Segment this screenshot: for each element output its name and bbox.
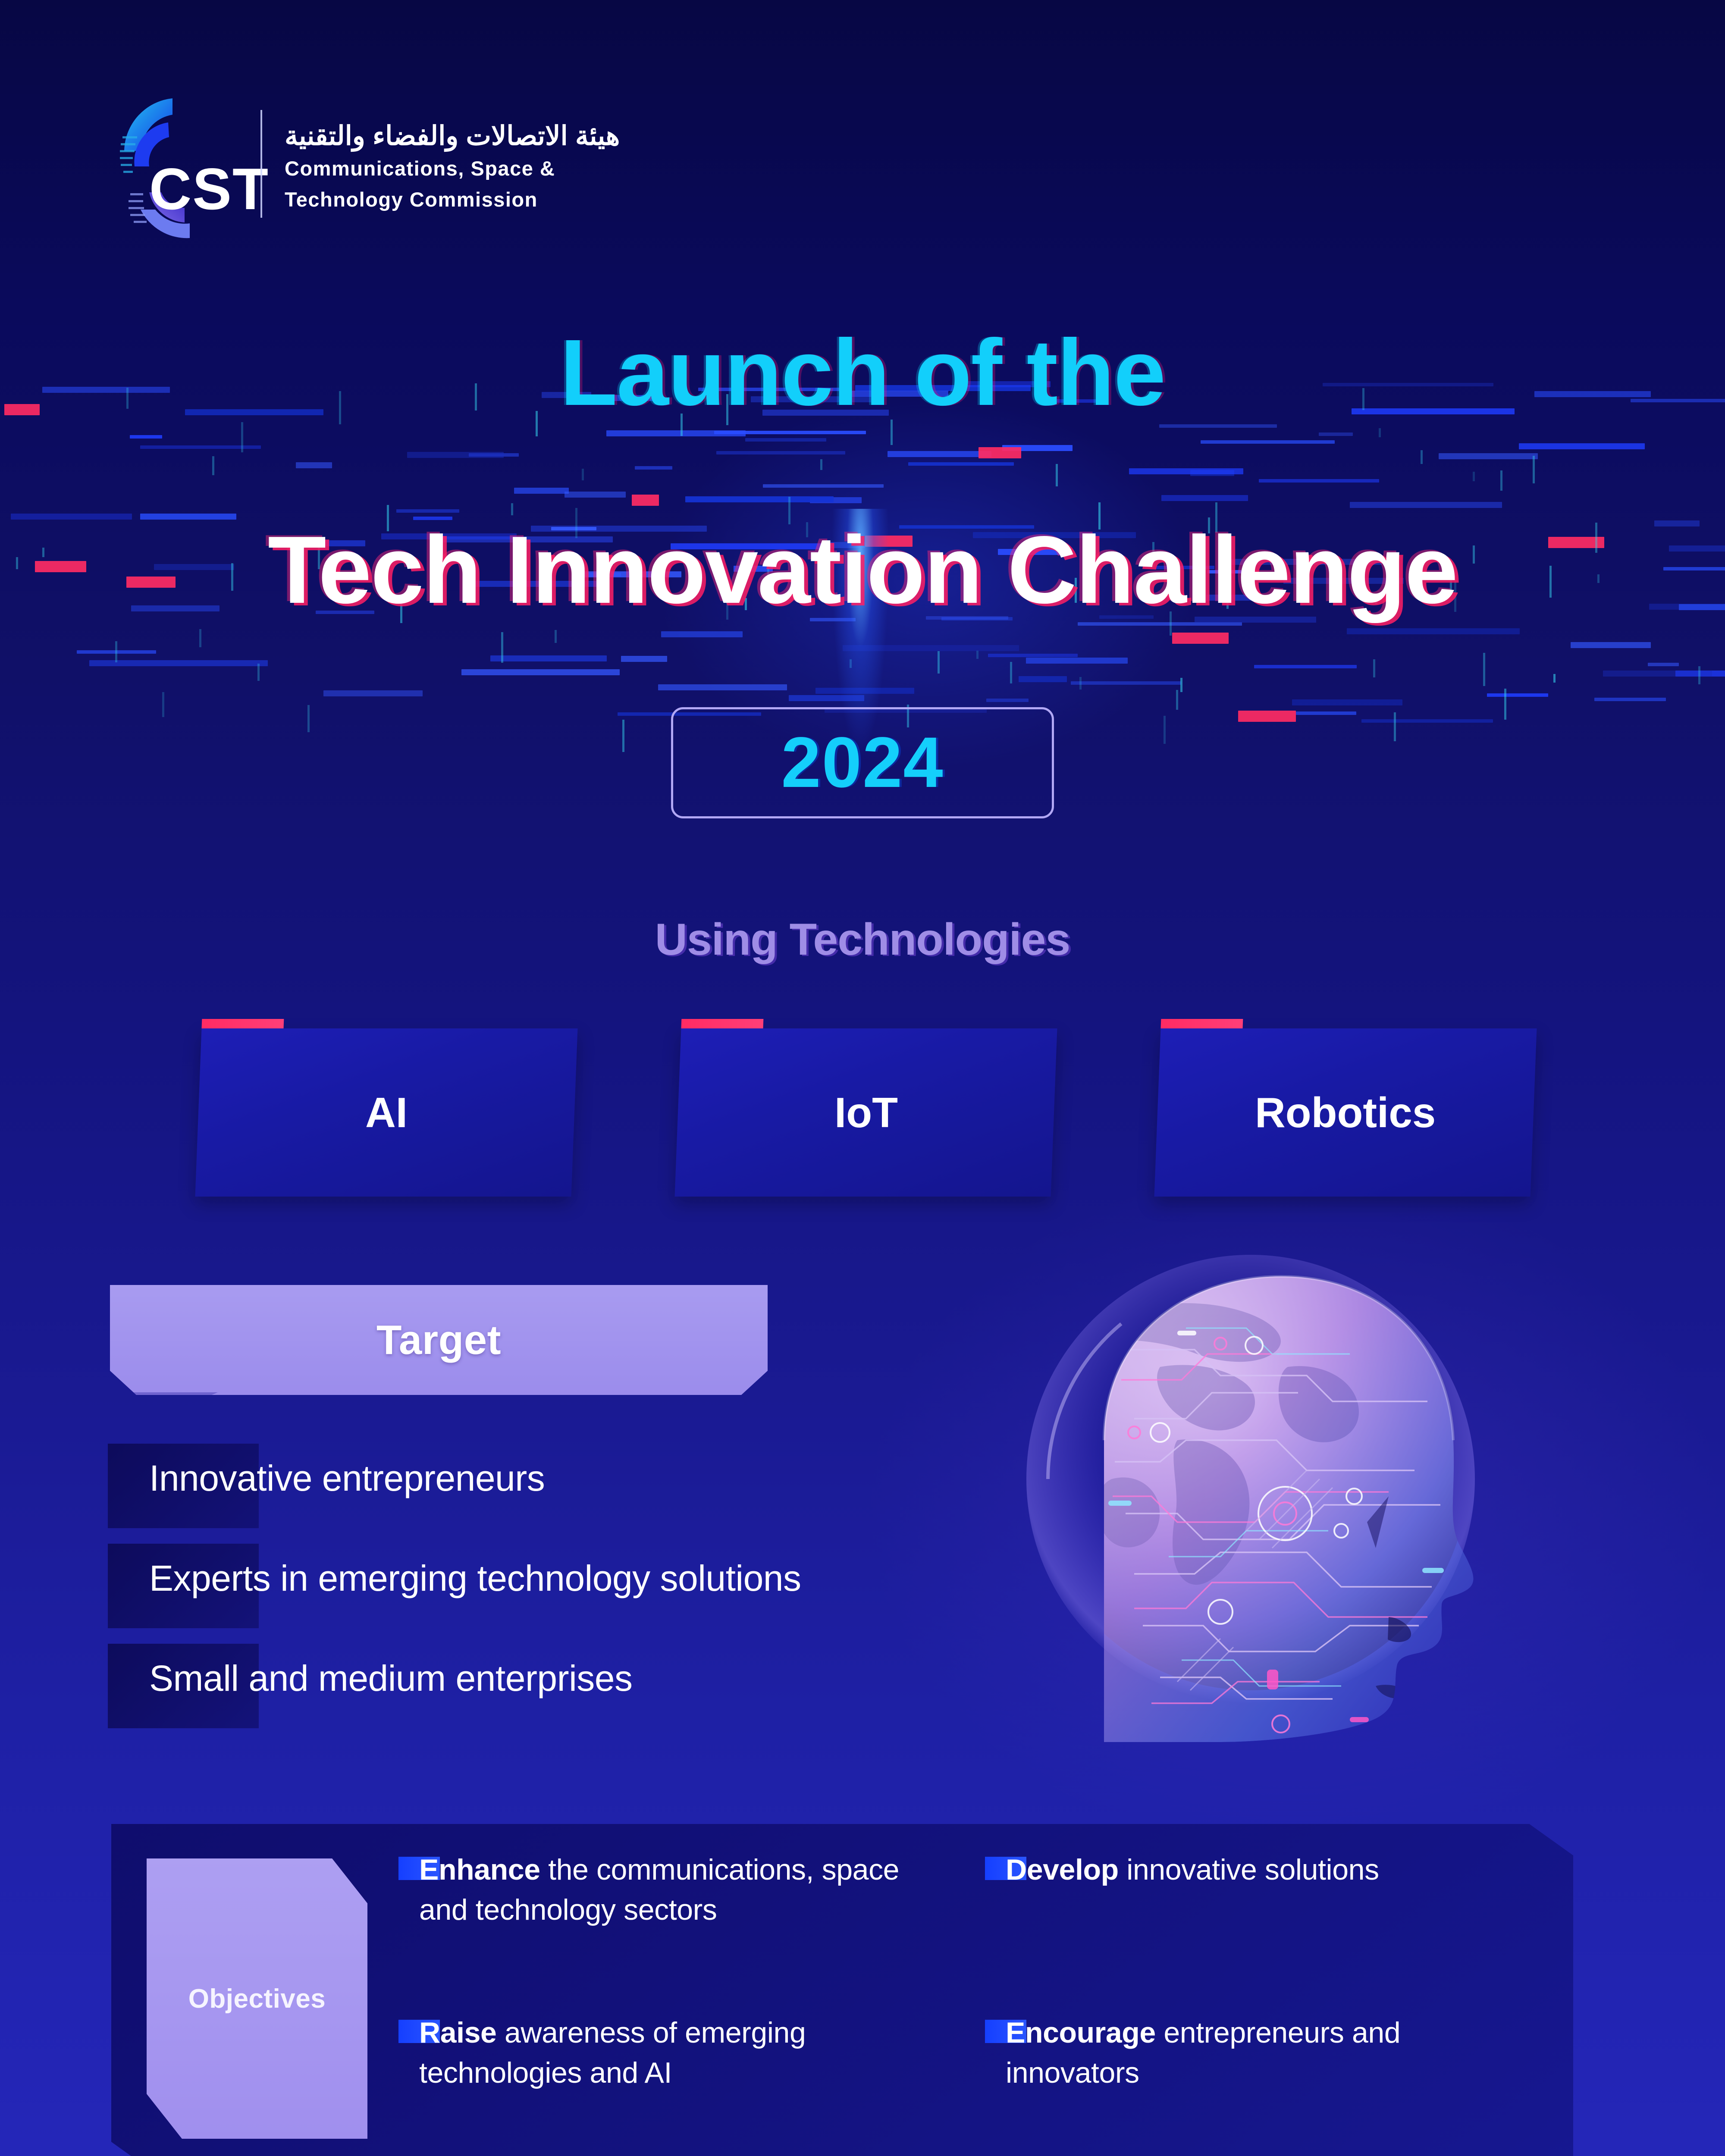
org-name-english-line2: Technology Commission <box>285 187 620 212</box>
list-item: Small and medium enterprises <box>108 1636 1057 1736</box>
technology-card-label: IoT <box>834 1088 898 1137</box>
objectives-grid: Enhance the communications, space and te… <box>401 1850 1540 2152</box>
objective-keyword: Encourage <box>1006 2016 1156 2049</box>
poster-canvas: CST هيئة الاتصالات والفضاء والتقنية Comm… <box>0 0 1725 2156</box>
objective-item: Encourage entrepreneurs and innovators <box>988 2013 1540 2093</box>
hero-year-text: 2024 <box>781 722 944 804</box>
cst-logo-icon: CST <box>108 86 250 241</box>
target-item-label: Innovative entrepreneurs <box>149 1457 545 1499</box>
card-accent-bar <box>1160 1019 1243 1028</box>
org-name-english-line1: Communications, Space & <box>285 156 620 181</box>
list-item: Experts in emerging technology solutions <box>108 1536 1057 1636</box>
objectives-heading-tab: Objectives <box>147 1858 367 2139</box>
target-list: Innovative entrepreneurs Experts in emer… <box>108 1436 1057 1736</box>
objective-item: Develop innovative solutions <box>988 1850 1540 1890</box>
objective-item: Enhance the communications, space and te… <box>401 1850 953 1930</box>
card-accent-bar <box>681 1019 763 1028</box>
hero-title-line1: Launch of the <box>0 319 1725 427</box>
technology-card-robotics[interactable]: Robotics <box>1154 1028 1537 1197</box>
objective-keyword: Develop <box>1006 1853 1119 1886</box>
objective-keyword: Raise <box>419 2016 496 2049</box>
technology-card-label: Robotics <box>1255 1088 1436 1137</box>
target-item-label: Small and medium enterprises <box>149 1658 633 1699</box>
objective-item: Raise awareness of emerging technologies… <box>401 2013 953 2093</box>
technologies-cards: AI IoT Robotics <box>0 1015 1725 1188</box>
card-accent-bar <box>201 1019 284 1028</box>
hero-title-line2: Tech Innovation Challenge <box>0 515 1725 625</box>
org-name-arabic: هيئة الاتصالات والفضاء والتقنية <box>285 122 620 150</box>
technologies-heading: Using Technologies <box>0 914 1725 965</box>
objectives-heading-text: Objectives <box>188 1984 326 2014</box>
technology-card-ai[interactable]: AI <box>195 1028 578 1197</box>
target-heading-text: Target <box>376 1316 501 1364</box>
cst-logo-lockup: CST هيئة الاتصالات والفضاء والتقنية Comm… <box>108 86 620 241</box>
objective-text: innovative solutions <box>1119 1853 1379 1886</box>
list-item: Innovative entrepreneurs <box>108 1436 1057 1536</box>
technology-card-iot[interactable]: IoT <box>675 1028 1057 1197</box>
target-item-label: Experts in emerging technology solutions <box>149 1557 801 1599</box>
hero-year-badge: 2024 <box>671 707 1054 818</box>
target-heading-banner: Target <box>110 1285 768 1395</box>
cst-acronym: CST <box>149 155 269 222</box>
technology-card-label: AI <box>365 1088 408 1137</box>
logo-divider <box>260 110 262 218</box>
objective-keyword: Enhance <box>419 1853 540 1886</box>
